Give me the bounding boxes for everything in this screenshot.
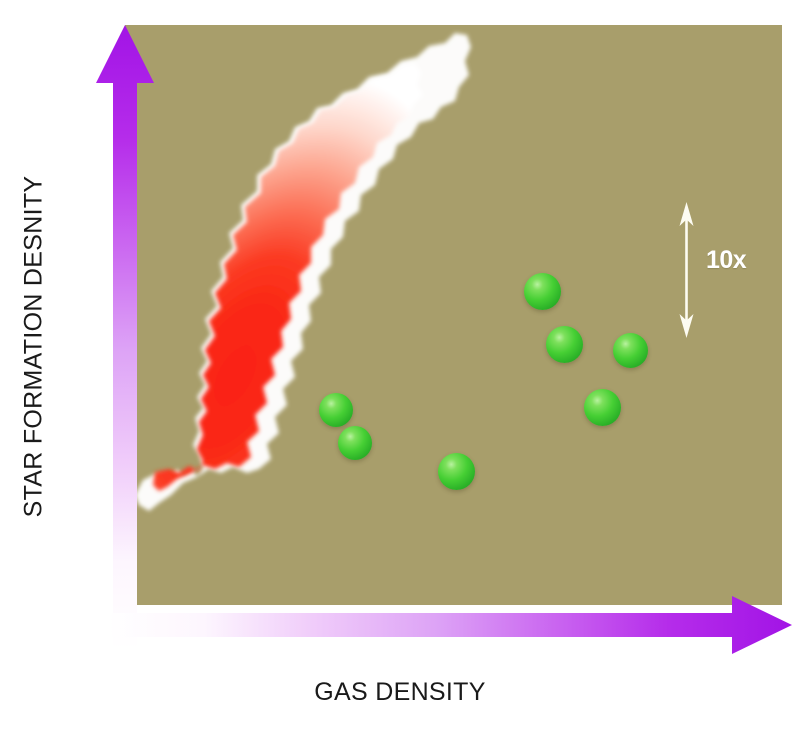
data-point-sphere[interactable]: [613, 333, 648, 368]
data-point-sphere[interactable]: [319, 393, 353, 427]
data-point-sphere[interactable]: [524, 273, 561, 310]
x-axis-label: GAS DENSITY: [0, 678, 800, 707]
plot-panel: 10x: [125, 25, 782, 605]
double-arrow-icon: [670, 200, 706, 340]
figure-canvas: 10x: [0, 0, 800, 738]
data-point-sphere[interactable]: [438, 453, 475, 490]
y-axis-label: STAR FORMATION DESNITY: [20, 87, 49, 607]
data-point-sphere[interactable]: [338, 426, 372, 460]
data-point-sphere[interactable]: [584, 389, 621, 426]
scale-annotation: 10x: [670, 200, 780, 340]
scale-label: 10x: [706, 248, 746, 273]
data-point-sphere[interactable]: [546, 326, 583, 363]
density-blob: [125, 25, 782, 605]
